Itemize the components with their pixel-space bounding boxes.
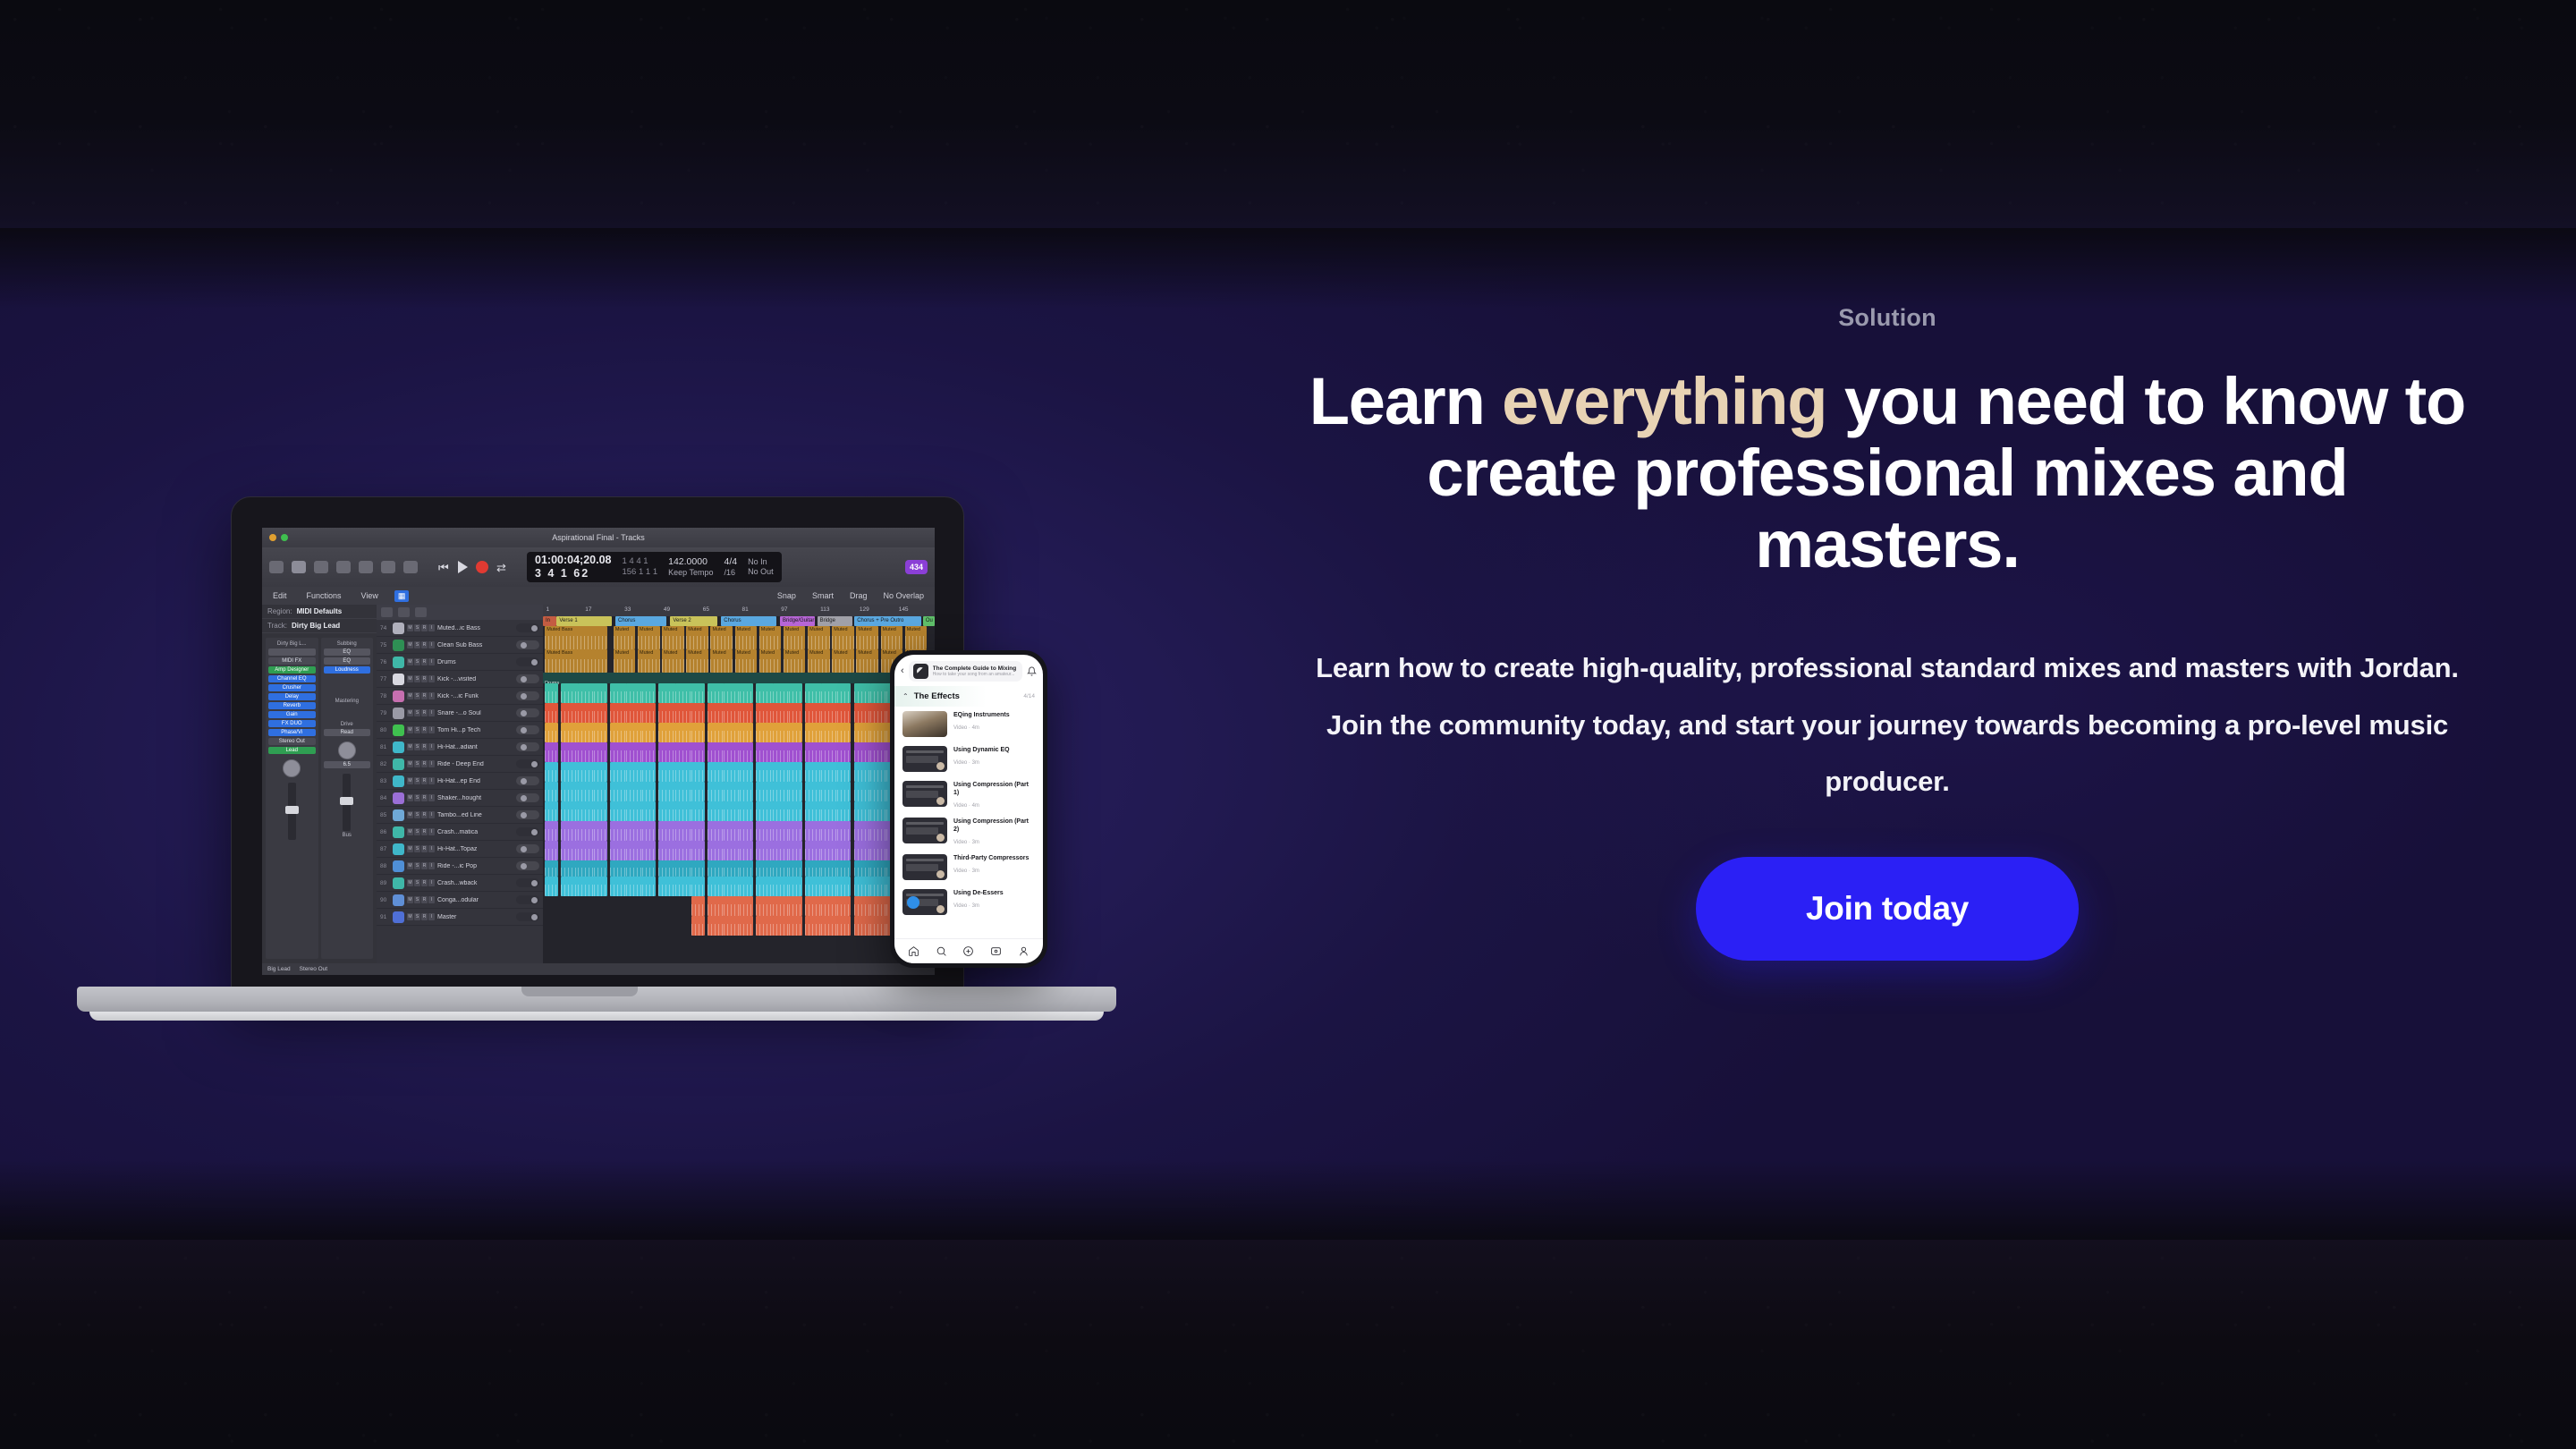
midi-region[interactable] — [691, 801, 705, 821]
audio-region[interactable]: Muted — [808, 626, 830, 649]
midi-region[interactable] — [610, 801, 627, 821]
midi-region[interactable] — [805, 801, 822, 821]
midi-region[interactable] — [561, 723, 578, 742]
lesson-thumbnail[interactable] — [902, 818, 947, 843]
midi-region[interactable] — [610, 877, 627, 896]
midi-region[interactable] — [854, 821, 871, 841]
menu-functions[interactable]: Functions — [303, 590, 345, 601]
track-mute-solo-record[interactable]: MSRI — [407, 726, 435, 733]
solo-all-button[interactable] — [415, 607, 427, 617]
midi-region[interactable] — [594, 860, 607, 877]
midi-region[interactable] — [854, 723, 871, 742]
master-eq-thumb[interactable]: EQ — [324, 648, 371, 656]
audio-region[interactable]: Muted — [808, 649, 830, 673]
midi-region[interactable] — [691, 703, 705, 723]
audio-region[interactable]: Muted — [710, 626, 733, 649]
midi-region[interactable] — [691, 742, 705, 762]
midi-region[interactable] — [837, 896, 851, 916]
bar-ruler[interactable]: 1173349658197113129145 — [543, 605, 935, 616]
section-header[interactable]: ⌃ The Effects 4/14 — [894, 686, 1043, 707]
midi-region[interactable] — [561, 683, 578, 703]
track-mute-solo-record[interactable]: MSRI — [407, 896, 435, 903]
track-volume-slider[interactable] — [516, 895, 539, 904]
lesson-list[interactable]: EQing InstrumentsVideo · 4mUsing Dynamic… — [894, 707, 1043, 938]
region-lane[interactable]: Muted BassMutedMutedMutedMutedMutedMuted… — [543, 649, 935, 673]
track-row[interactable]: 80MSRITom Hi...p Tech — [377, 722, 543, 739]
midi-region[interactable] — [740, 762, 753, 782]
midi-region[interactable] — [854, 762, 871, 782]
midi-region[interactable] — [756, 896, 773, 916]
arrangement-marker[interactable]: Verse 1 — [556, 616, 611, 626]
arrangement-marker[interactable]: Chorus — [615, 616, 666, 626]
midi-region[interactable] — [545, 742, 558, 762]
track-row[interactable]: 89MSRICrash...wback — [377, 875, 543, 892]
midi-region[interactable] — [805, 877, 822, 896]
midi-region[interactable] — [545, 821, 558, 841]
midi-region[interactable] — [691, 723, 705, 742]
midi-region[interactable] — [805, 703, 822, 723]
track-instrument-icon[interactable] — [393, 657, 404, 668]
track-instrument-icon[interactable] — [393, 911, 404, 923]
midi-region[interactable] — [642, 782, 656, 801]
midi-region[interactable] — [594, 723, 607, 742]
track-row[interactable]: 83MSRIHi-Hat...ep End — [377, 773, 543, 790]
midi-region[interactable] — [691, 896, 705, 916]
midi-region[interactable] — [594, 821, 607, 841]
track-mute-solo-record[interactable]: MSRI — [407, 913, 435, 920]
midi-region[interactable] — [642, 723, 656, 742]
midi-region[interactable] — [545, 877, 558, 896]
region-lane[interactable] — [543, 762, 935, 782]
region-lane[interactable]: Muted BassMutedMutedMutedMutedMutedMuted… — [543, 626, 935, 649]
channel-strip-master[interactable]: Subbing EQ EQ Loudness Mastering Drive R… — [321, 638, 374, 959]
track-mute-solo-record[interactable]: MSRI — [407, 828, 435, 835]
midi-region[interactable] — [691, 782, 705, 801]
track-volume-slider[interactable] — [516, 861, 539, 870]
track-instrument-icon[interactable] — [393, 843, 404, 855]
audio-region[interactable]: Muted — [662, 626, 684, 649]
track-volume-slider[interactable] — [516, 691, 539, 700]
midi-region[interactable] — [561, 762, 578, 782]
master-fader[interactable] — [343, 774, 351, 831]
track-volume-slider[interactable] — [516, 776, 539, 785]
midi-region[interactable] — [708, 821, 724, 841]
region-lane[interactable]: Drums — [543, 673, 935, 683]
midi-region[interactable] — [708, 782, 724, 801]
midi-region[interactable] — [708, 703, 724, 723]
midi-region[interactable] — [708, 683, 724, 703]
track-volume-slider[interactable] — [516, 725, 539, 734]
midi-region[interactable] — [854, 877, 871, 896]
region-lane[interactable] — [543, 742, 935, 762]
track-row[interactable]: 79MSRISnare -...o Soul — [377, 705, 543, 722]
track-instrument-icon[interactable] — [393, 860, 404, 872]
lcd-display[interactable]: 01:00:04;20.08 3 4 1 62 1 4 4 1 156 1 1 … — [527, 552, 782, 582]
join-today-button[interactable]: Join today — [1696, 857, 2079, 961]
chevron-up-icon[interactable]: ⌃ — [902, 692, 909, 700]
duplicate-track-button[interactable] — [398, 607, 410, 617]
midi-region[interactable] — [789, 683, 802, 703]
midi-region[interactable] — [854, 896, 871, 916]
midi-fx-slot[interactable]: MIDI FX — [268, 657, 316, 665]
midi-region[interactable] — [708, 762, 724, 782]
midi-region[interactable] — [789, 841, 802, 860]
bell-icon[interactable] — [1027, 666, 1037, 676]
midi-region[interactable] — [594, 877, 607, 896]
midi-region[interactable] — [740, 877, 753, 896]
audio-region[interactable]: Muted — [759, 649, 782, 673]
midi-region[interactable] — [561, 801, 578, 821]
arrangement-marker[interactable]: Chorus — [721, 616, 775, 626]
track-volume-slider[interactable] — [516, 742, 539, 751]
midi-region[interactable] — [756, 762, 773, 782]
track-instrument-icon[interactable] — [393, 640, 404, 651]
audio-region[interactable]: Muted — [832, 626, 854, 649]
midi-region[interactable] — [756, 723, 773, 742]
midi-region[interactable] — [642, 860, 656, 877]
home-icon[interactable] — [908, 945, 919, 957]
midi-region[interactable] — [708, 860, 724, 877]
midi-region[interactable] — [658, 821, 675, 841]
midi-region[interactable] — [594, 762, 607, 782]
midi-region[interactable] — [642, 801, 656, 821]
track-instrument-icon[interactable] — [393, 894, 404, 906]
midi-region[interactable] — [610, 821, 627, 841]
lesson-thumbnail[interactable] — [902, 746, 947, 772]
midi-region[interactable] — [789, 916, 802, 936]
track-instrument-icon[interactable] — [393, 708, 404, 719]
search-icon[interactable] — [936, 945, 947, 957]
master-pan-knob[interactable] — [338, 741, 356, 759]
midi-region[interactable] — [789, 742, 802, 762]
menu-edit[interactable]: Edit — [269, 590, 291, 601]
midi-region[interactable] — [756, 860, 773, 877]
track-instrument-icon[interactable] — [393, 691, 404, 702]
track-row[interactable]: 85MSRITambo...ed Line — [377, 807, 543, 824]
track-row[interactable]: 91MSRIMaster — [377, 909, 543, 926]
plugin-slot-4[interactable]: Reverb — [268, 702, 316, 709]
list-item[interactable]: Using De-EssersVideo · 3m — [894, 885, 1043, 919]
region-lane[interactable] — [543, 723, 935, 742]
midi-region[interactable] — [789, 762, 802, 782]
audio-region[interactable]: Muted — [905, 626, 928, 649]
midi-region[interactable] — [708, 723, 724, 742]
midi-region[interactable] — [642, 762, 656, 782]
smart-controls-icon[interactable] — [359, 561, 373, 573]
region-lane[interactable] — [543, 801, 935, 821]
track-instrument-icon[interactable] — [393, 775, 404, 787]
midi-region[interactable] — [805, 860, 822, 877]
video-icon[interactable] — [990, 945, 1002, 957]
plugin-slot-5[interactable]: Gain — [268, 711, 316, 718]
cycle-icon[interactable]: ⇄ — [496, 562, 508, 573]
lesson-thumbnail[interactable] — [902, 854, 947, 880]
snap-value[interactable]: Smart — [809, 590, 837, 601]
rewind-icon[interactable]: ⏮ — [438, 562, 450, 573]
midi-region[interactable] — [561, 703, 578, 723]
list-item[interactable]: Using Compression (Part 1)Video · 4m — [894, 776, 1043, 813]
track-volume-slider[interactable] — [516, 640, 539, 649]
midi-region[interactable] — [610, 782, 627, 801]
play-icon[interactable] — [458, 561, 468, 573]
plus-circle-icon[interactable] — [962, 945, 974, 957]
track-row[interactable]: 90MSRIConga...odular — [377, 892, 543, 909]
midi-region[interactable] — [545, 762, 558, 782]
midi-region[interactable] — [691, 683, 705, 703]
midi-region[interactable] — [658, 762, 675, 782]
midi-region[interactable] — [658, 877, 675, 896]
track-volume-slider[interactable] — [516, 878, 539, 887]
audio-region[interactable]: Muted — [856, 626, 878, 649]
midi-region[interactable] — [789, 877, 802, 896]
toolbar-icon[interactable] — [336, 561, 351, 573]
midi-region[interactable] — [789, 821, 802, 841]
track-volume-slider[interactable] — [516, 759, 539, 768]
mixer-icon[interactable] — [381, 561, 395, 573]
midi-region[interactable] — [561, 860, 578, 877]
plugin-slot-6[interactable]: FX DUO — [268, 720, 316, 727]
master-slot-loudness[interactable]: Loudness — [324, 666, 371, 674]
arrangement-marker[interactable]: Verse 2 — [670, 616, 717, 626]
midi-region[interactable] — [854, 801, 871, 821]
midi-region[interactable] — [789, 801, 802, 821]
midi-region[interactable] — [740, 801, 753, 821]
bus-slot[interactable]: Stereo Out — [268, 738, 316, 745]
midi-region[interactable] — [789, 703, 802, 723]
editors-icon[interactable] — [403, 561, 418, 573]
region-lane[interactable] — [543, 916, 935, 936]
midi-region[interactable] — [854, 703, 871, 723]
track-row[interactable]: 77MSRIKick -...visited — [377, 671, 543, 688]
track-mute-solo-record[interactable]: MSRI — [407, 641, 435, 648]
region-lanes[interactable]: Muted BassMutedMutedMutedMutedMutedMuted… — [543, 626, 935, 963]
midi-region[interactable] — [854, 916, 871, 936]
track-volume-slider[interactable] — [516, 827, 539, 836]
midi-region[interactable] — [691, 877, 705, 896]
plugin-slot-2[interactable]: Crusher — [268, 684, 316, 691]
midi-region[interactable] — [594, 683, 607, 703]
midi-region[interactable] — [805, 723, 822, 742]
track-instrument-icon[interactable] — [393, 809, 404, 821]
midi-region[interactable] — [740, 703, 753, 723]
audio-region[interactable]: Muted — [686, 649, 708, 673]
midi-region[interactable] — [740, 860, 753, 877]
master-gain-value[interactable]: 6.5 — [324, 761, 371, 768]
arrangement-marker[interactable]: In — [543, 616, 556, 626]
midi-region[interactable] — [756, 877, 773, 896]
midi-region[interactable] — [708, 896, 724, 916]
midi-region[interactable] — [805, 742, 822, 762]
library-icon[interactable] — [269, 561, 284, 573]
midi-region[interactable] — [610, 841, 627, 860]
track-row[interactable]: 75MSRIClean Sub Bass — [377, 637, 543, 654]
region-lane[interactable] — [543, 782, 935, 801]
track-row[interactable]: 87MSRIHi-Hat...Topaz — [377, 841, 543, 858]
midi-region[interactable] — [691, 821, 705, 841]
midi-region[interactable] — [658, 860, 675, 877]
midi-region[interactable] — [740, 896, 753, 916]
midi-region[interactable] — [708, 916, 724, 936]
midi-region[interactable] — [740, 742, 753, 762]
arrangement-marker[interactable]: Bridge/Guitar S — [780, 616, 815, 626]
midi-region[interactable] — [545, 723, 558, 742]
list-item[interactable]: EQing InstrumentsVideo · 4m — [894, 707, 1043, 741]
midi-region[interactable] — [658, 742, 675, 762]
course-card[interactable]: The Complete Guide to Mixing How to take… — [909, 661, 1022, 682]
midi-region[interactable] — [658, 723, 675, 742]
midi-region[interactable] — [708, 742, 724, 762]
track-row[interactable]: 78MSRIKick -...ic Funk — [377, 688, 543, 705]
track-mute-solo-record[interactable]: MSRI — [407, 760, 435, 767]
audio-region[interactable]: Muted — [784, 626, 806, 649]
midi-region[interactable] — [594, 703, 607, 723]
midi-region[interactable] — [740, 723, 753, 742]
plugin-slot-7[interactable]: Phase/Vi — [268, 729, 316, 736]
midi-region[interactable] — [691, 916, 705, 936]
midi-region[interactable] — [837, 841, 851, 860]
midi-region[interactable] — [854, 841, 871, 860]
midi-region[interactable] — [805, 762, 822, 782]
midi-region[interactable] — [610, 860, 627, 877]
audio-region[interactable]: Muted — [638, 626, 660, 649]
midi-region[interactable] — [740, 841, 753, 860]
midi-region[interactable] — [708, 841, 724, 860]
midi-region[interactable] — [756, 782, 773, 801]
midi-region[interactable] — [545, 801, 558, 821]
menu-view[interactable]: View — [358, 590, 382, 601]
midi-region[interactable] — [658, 841, 675, 860]
region-lane[interactable] — [543, 703, 935, 723]
phone-bottom-nav[interactable] — [894, 938, 1043, 963]
midi-region[interactable] — [837, 762, 851, 782]
master-slot-eq[interactable]: EQ — [324, 657, 371, 665]
track-instrument-icon[interactable] — [393, 792, 404, 804]
back-icon[interactable]: ‹ — [901, 666, 904, 676]
midi-region[interactable] — [756, 821, 773, 841]
midi-region[interactable] — [837, 703, 851, 723]
midi-region[interactable] — [805, 841, 822, 860]
audio-region[interactable]: Muted — [856, 649, 878, 673]
midi-region[interactable] — [691, 860, 705, 877]
arrangement-marker[interactable]: Bridge — [818, 616, 852, 626]
add-track-button[interactable] — [381, 607, 393, 617]
drag-value[interactable]: No Overlap — [879, 590, 928, 601]
midi-region[interactable] — [740, 683, 753, 703]
midi-region[interactable] — [740, 782, 753, 801]
pan-knob[interactable] — [283, 759, 301, 777]
track-mute-solo-record[interactable]: MSRI — [407, 777, 435, 784]
track-mute-solo-record[interactable]: MSRI — [407, 879, 435, 886]
region-lane[interactable] — [543, 860, 935, 877]
track-volume-slider[interactable] — [516, 844, 539, 853]
audio-region[interactable]: Muted — [638, 649, 660, 673]
track-volume-slider[interactable] — [516, 708, 539, 717]
midi-region[interactable] — [854, 782, 871, 801]
midi-region[interactable] — [789, 896, 802, 916]
midi-region[interactable] — [642, 877, 656, 896]
track-row[interactable]: 86MSRICrash...matica — [377, 824, 543, 841]
track-instrument-icon[interactable] — [393, 623, 404, 634]
audio-region[interactable]: Muted — [614, 626, 636, 649]
midi-region[interactable] — [756, 916, 773, 936]
group-slot[interactable]: Lead — [268, 747, 316, 754]
midi-region[interactable] — [561, 782, 578, 801]
midi-region[interactable] — [805, 916, 822, 936]
list-item[interactable]: Third-Party CompressorsVideo · 3m — [894, 850, 1043, 885]
midi-region[interactable] — [658, 782, 675, 801]
midi-region[interactable] — [610, 703, 627, 723]
eq-thumbnail[interactable] — [268, 648, 316, 656]
audio-region[interactable]: Muted — [784, 649, 806, 673]
midi-region[interactable] — [594, 841, 607, 860]
track-mute-solo-record[interactable]: MSRI — [407, 692, 435, 699]
region-lane[interactable] — [543, 841, 935, 860]
midi-region[interactable] — [756, 841, 773, 860]
track-volume-slider[interactable] — [516, 793, 539, 802]
midi-region[interactable] — [642, 683, 656, 703]
midi-region[interactable] — [756, 801, 773, 821]
midi-region[interactable] — [594, 782, 607, 801]
track-mute-solo-record[interactable]: MSRI — [407, 845, 435, 852]
midi-region[interactable] — [756, 683, 773, 703]
audio-region[interactable]: Muted Bass — [545, 626, 607, 649]
midi-region[interactable] — [837, 683, 851, 703]
midi-region[interactable] — [545, 703, 558, 723]
midi-region[interactable] — [691, 841, 705, 860]
region-lane[interactable] — [543, 821, 935, 841]
plugin-slot-0[interactable]: Amp Designer — [268, 666, 316, 674]
midi-region[interactable] — [658, 703, 675, 723]
arrange-area[interactable]: 1173349658197113129145 InVerse 1ChorusVe… — [543, 605, 935, 963]
midi-region[interactable] — [805, 896, 822, 916]
midi-region[interactable] — [658, 801, 675, 821]
midi-region[interactable] — [708, 877, 724, 896]
catch-toggle[interactable]: ▦ — [394, 590, 410, 602]
track-instrument-icon[interactable] — [393, 758, 404, 770]
midi-region[interactable] — [642, 742, 656, 762]
midi-region[interactable] — [789, 860, 802, 877]
lesson-thumbnail[interactable] — [902, 781, 947, 807]
audio-region[interactable]: Muted — [662, 649, 684, 673]
track-instrument-icon[interactable] — [393, 877, 404, 889]
audio-region[interactable]: Muted — [881, 626, 903, 649]
midi-region[interactable] — [837, 723, 851, 742]
track-mute-solo-record[interactable]: MSRI — [407, 811, 435, 818]
midi-region[interactable] — [561, 841, 578, 860]
midi-region[interactable] — [854, 683, 871, 703]
transport-controls[interactable]: ⏮ ⇄ — [438, 561, 508, 573]
lesson-thumbnail[interactable] — [902, 889, 947, 915]
channel-strip-track[interactable]: Dirty Big L... MIDI FX Amp Designer Chan… — [266, 638, 318, 959]
track-row[interactable]: 74MSRIMuted...ic Bass — [377, 620, 543, 637]
track-instrument-icon[interactable] — [393, 826, 404, 838]
midi-region[interactable] — [594, 801, 607, 821]
midi-region[interactable] — [837, 821, 851, 841]
track-row[interactable]: 84MSRIShaker...hought — [377, 790, 543, 807]
midi-region[interactable] — [805, 782, 822, 801]
midi-region[interactable] — [740, 916, 753, 936]
track-mute-solo-record[interactable]: MSRI — [407, 709, 435, 716]
midi-region[interactable] — [658, 683, 675, 703]
midi-region[interactable] — [756, 703, 773, 723]
midi-region[interactable] — [837, 877, 851, 896]
audio-region[interactable]: Muted — [614, 649, 636, 673]
volume-fader[interactable] — [288, 783, 296, 840]
track-row[interactable]: 76MSRIDrums — [377, 654, 543, 671]
list-item[interactable]: Using Compression (Part 2)Video · 3m — [894, 813, 1043, 850]
midi-region[interactable] — [594, 742, 607, 762]
arrangement-marker[interactable]: Chorus + Pre Outro — [854, 616, 920, 626]
